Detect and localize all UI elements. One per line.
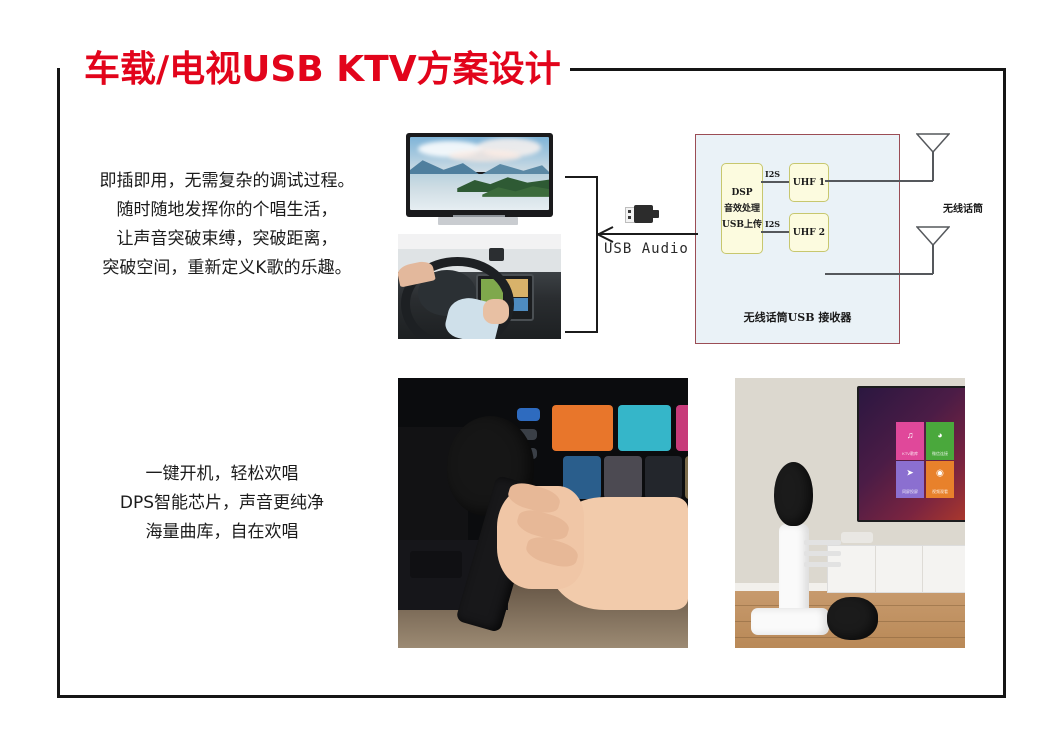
receiver-block-diagram: DSP 音效处理 USB上传 UHF 1 UHF 2 I2S I2S 无线话筒U…	[695, 134, 900, 344]
uhf1-block: UHF 1	[789, 163, 829, 202]
microphone-button	[804, 562, 841, 567]
tv-tile-icon: ◕	[937, 430, 942, 440]
tv-stand-base	[438, 217, 518, 225]
description-line: 让声音突破束缚，突破距离，	[72, 225, 382, 254]
dsp-label-1: DSP	[731, 185, 752, 201]
lying-microphone-foam-head	[827, 597, 878, 640]
dash-tile	[618, 405, 670, 451]
tv-tile-icon: ➤	[906, 468, 914, 479]
frame-left-line	[57, 68, 60, 698]
frame-bottom-line	[57, 695, 1006, 698]
usb-audio-label: USB Audio	[604, 241, 689, 257]
usb-contact	[628, 210, 631, 213]
slide-canvas: 车载/电视USB KTV方案设计 即插即用，无需复杂的调试过程。 随时随地发挥你…	[0, 0, 1061, 749]
tv-tile-label: 微信连接	[926, 451, 955, 457]
antenna-icon-2	[916, 226, 950, 246]
tv-tile-label: KTV歌库	[896, 451, 925, 457]
tv-tile-label: 视频观看	[926, 489, 955, 495]
usb-plug-icon	[625, 204, 659, 224]
driver-hand-touching-screen	[483, 299, 509, 324]
dash-tile	[685, 456, 688, 499]
uhf1-label: UHF 1	[793, 178, 825, 188]
dsp-to-uhf2-wire	[761, 231, 789, 233]
dsp-block: DSP 音效处理 USB上传	[721, 163, 763, 254]
usb-contact	[628, 216, 631, 219]
uhf2-antenna-wire-v	[932, 245, 934, 274]
tv-tile-icon: ◉	[936, 468, 944, 479]
dash-tile	[676, 405, 688, 451]
frame-right-line	[1003, 68, 1006, 698]
dsp-to-uhf1-wire	[761, 181, 789, 183]
dash-tile	[517, 408, 540, 422]
dsp-label-2: 音效处理	[724, 201, 760, 217]
tv-tile-label: 同屏投屏	[896, 489, 925, 495]
description-line: 即插即用，无需复杂的调试过程。	[72, 167, 382, 196]
tv-app-tile: ◕ 微信连接	[926, 422, 955, 459]
description-text-top: 即插即用，无需复杂的调试过程。 随时随地发挥你的个唱生活， 让声音突破束缚，突破…	[72, 167, 382, 283]
tv-app-tile: ◉ 视频观看	[926, 461, 955, 498]
usb-plug-tail	[652, 210, 659, 218]
i2s-label-2: I2S	[765, 219, 780, 229]
dash-tile	[552, 405, 613, 451]
cabinet-remote	[841, 532, 873, 543]
uhf2-antenna-wire-h	[825, 273, 933, 275]
uhf2-block: UHF 2	[789, 213, 829, 252]
frame-top-line	[570, 68, 1006, 71]
page-title: 车载/电视USB KTV方案设计	[84, 40, 561, 92]
wall-mounted-tv: ♫ KTV歌库 ◕ 微信连接 ➤ 同屏投屏 ◉ 视频观看	[857, 386, 965, 522]
cloud	[449, 150, 521, 162]
description-line: 海量曲库，自在欢唱	[72, 518, 372, 547]
description-line: DPS智能芯片，声音更纯净	[72, 489, 372, 518]
bracket-vertical	[596, 176, 598, 333]
cabinet-divider	[875, 546, 876, 592]
lying-microphone-handle	[751, 608, 829, 635]
description-line: 一键开机，轻松欢唱	[72, 460, 372, 489]
cabinet-divider	[922, 546, 923, 592]
description-line: 随时随地发挥你的个唱生活，	[72, 196, 382, 225]
mics-living-room-photo: ♫ KTV歌库 ◕ 微信连接 ➤ 同屏投屏 ◉ 视频观看	[735, 378, 965, 648]
dash-tile	[645, 456, 683, 499]
antenna-icon-1	[916, 133, 950, 153]
i2s-label-1: I2S	[765, 169, 780, 179]
tv-app-tile: ➤ 同屏投屏	[896, 461, 925, 498]
phone-mount	[489, 248, 504, 262]
wireless-mic-label: 无线话筒	[943, 200, 983, 215]
tv-cabinet	[827, 545, 965, 593]
tv-app-tile: ♫ KTV歌库	[896, 422, 925, 459]
mic-in-car-photo	[398, 378, 688, 648]
description-text-bottom: 一键开机，轻松欢唱 DPS智能芯片，声音更纯净 海量曲库，自在欢唱	[72, 460, 372, 547]
bracket-bottom	[565, 331, 598, 333]
dsp-label-3: USB上传	[722, 217, 762, 233]
car-interior-photo	[398, 234, 561, 339]
tv-photo	[398, 127, 561, 230]
dash-tile	[604, 456, 642, 499]
uhf1-antenna-wire-v	[932, 152, 934, 181]
standing-microphone-foam-head	[774, 462, 813, 527]
microphone-button	[804, 551, 841, 556]
tv-screen-image	[410, 137, 549, 210]
microphone-button	[804, 540, 841, 545]
description-line: 突破空间，重新定义K歌的乐趣。	[72, 254, 382, 283]
bracket-top	[565, 176, 598, 178]
diagram-caption: 无线话筒USB 接收器	[696, 309, 899, 325]
car-air-vent	[410, 551, 462, 578]
uhf1-antenna-wire-h	[825, 180, 933, 182]
uhf2-label: UHF 2	[793, 228, 825, 238]
usb-plug-body	[634, 205, 653, 223]
tv-tile-icon: ♫	[907, 430, 914, 440]
usb-input-wire	[678, 233, 698, 235]
